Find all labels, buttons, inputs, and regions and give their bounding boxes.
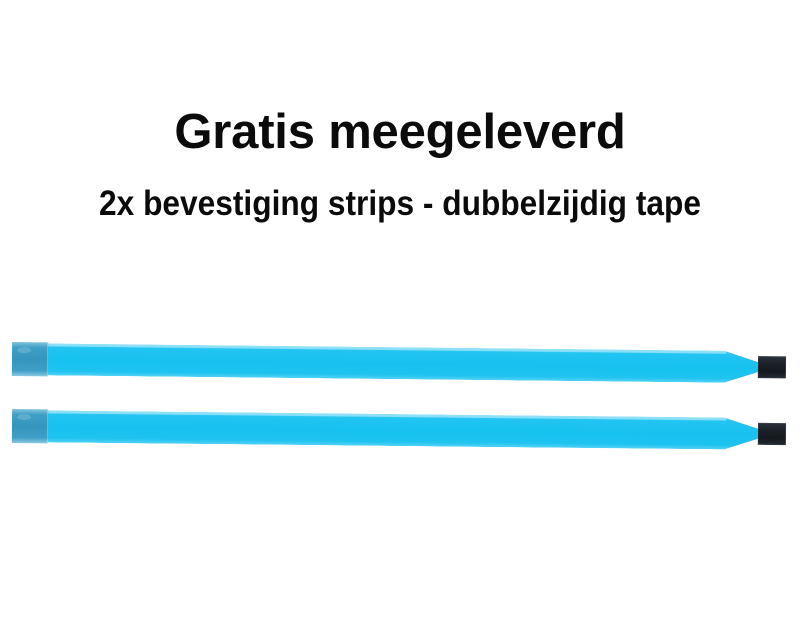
tape-body-icon bbox=[12, 343, 760, 383]
tape-body-icon bbox=[12, 410, 760, 450]
page-subtitle: 2x bevestiging strips - dubbelzijdig tap… bbox=[38, 186, 762, 221]
liner-tab-icon bbox=[12, 342, 48, 376]
end-cap-icon bbox=[758, 356, 786, 378]
liner-tab-icon bbox=[12, 409, 48, 443]
page-title: Gratis meegeleverd bbox=[0, 108, 800, 157]
end-cap-icon bbox=[758, 423, 786, 445]
mounting-strip-2 bbox=[12, 409, 786, 451]
mounting-strip-1 bbox=[12, 342, 786, 384]
product-promo-image: Gratis meegeleverd 2x bevestiging strips… bbox=[0, 0, 800, 619]
